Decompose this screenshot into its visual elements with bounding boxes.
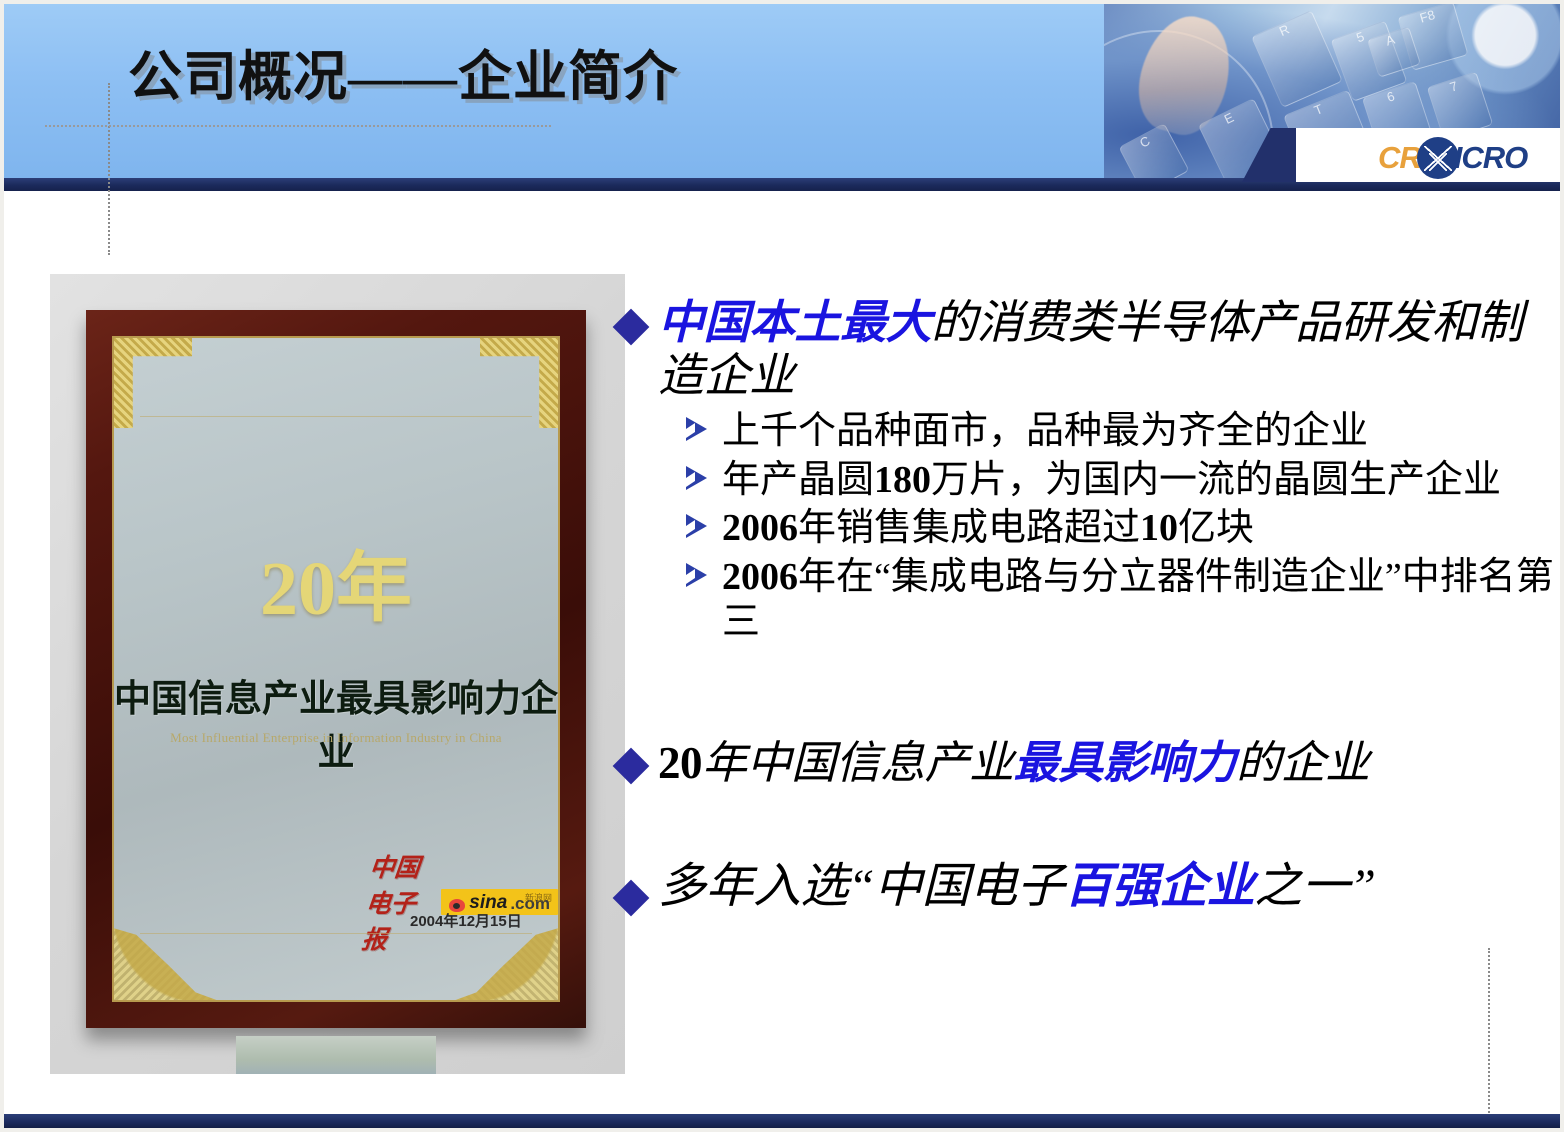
plaque-corner-top-right-icon — [480, 336, 560, 428]
sub3-d: 亿块 — [1178, 507, 1254, 549]
plaque-year-text: 20年 — [114, 526, 558, 636]
arrow-bullet-icon — [684, 415, 710, 449]
diamond-bullet-icon — [613, 880, 650, 917]
bullet-2-d: 的企业 — [1236, 738, 1370, 788]
bullet-level1-2: 20年中国信息产业最具影响力的企业 — [618, 737, 1558, 789]
plaque-hairline-bottom — [140, 933, 532, 934]
plaque-date-text: 2004年12月15日 — [410, 910, 522, 931]
sub2-c: 万片，为国内一流的晶圆生产企业 — [931, 459, 1501, 501]
bullet-level1-1-text: 中国本土最大的消费类半导体产品研发和制造企业 — [658, 296, 1558, 403]
bullet-level1-2-text: 20年中国信息产业最具影响力的企业 — [658, 737, 1370, 789]
bullet-3-a: 多年入选“中国电子 — [658, 860, 1064, 913]
bullet-level2-2-text: 年产晶圆180万片，为国内一流的晶圆生产企业 — [722, 458, 1501, 503]
plaque-stand — [236, 1036, 436, 1074]
arrow-bullet-icon — [684, 561, 710, 595]
bullet-level2-4: 2006年在“集成电路与分立器件制造企业”中排名第三 — [684, 555, 1558, 645]
logo-text-icro: ICRO — [1454, 140, 1528, 176]
bullet-level2-list: 上千个品种面市，品种最为齐全的企业 年产晶圆180万片，为国内一流的晶圆生产企业… — [684, 409, 1558, 645]
diamond-bullet-icon — [613, 747, 650, 784]
sub3-number: 10 — [1140, 507, 1178, 549]
bullet-content-column: 中国本土最大的消费类半导体产品研发和制造企业 上千个品种面市，品种最为齐全的企业… — [618, 296, 1558, 915]
dotted-guide-vertical-right — [1488, 948, 1490, 1132]
plaque-inner-panel: 20年 中国信息产业最具影响力企业 Most Influential Enter… — [112, 336, 560, 1002]
sub3-year: 2006 — [722, 507, 798, 549]
crmicro-logo: CR ICRO — [1378, 136, 1560, 180]
plaque-wood-frame: 20年 中国信息产业最具影响力企业 Most Influential Enter… — [86, 310, 586, 1028]
bullet-level2-1-text: 上千个品种面市，品种最为齐全的企业 — [722, 409, 1368, 454]
plaque-corner-bottom-left-icon — [112, 882, 222, 1002]
logo-text-cr: CR — [1378, 140, 1421, 176]
mountain-m-icon — [1417, 137, 1459, 179]
bullet-1-highlight: 中国本土最大 — [658, 297, 931, 348]
page-title: 公司概况——企业简介 — [128, 32, 678, 111]
spacer-1 — [618, 649, 1558, 737]
bullet-2-b: 年中国信息产业 — [702, 738, 1014, 788]
bullet-3-c: 之一” — [1254, 860, 1375, 913]
dotted-guide-horizontal-left — [45, 125, 551, 127]
arrow-bullet-icon — [684, 464, 710, 498]
sub2-a: 年产晶圆 — [722, 459, 874, 501]
award-plaque-photo: 20年 中国信息产业最具影响力企业 Most Influential Enter… — [50, 274, 625, 1074]
sub4-b: 年在“集成电路与分立器件制造企业”中排名第三 — [722, 556, 1554, 643]
bullet-level2-2: 年产晶圆180万片，为国内一流的晶圆生产企业 — [684, 458, 1558, 503]
sub4-year: 2006 — [722, 556, 798, 598]
diamond-bullet-icon — [613, 309, 650, 346]
bullet-level2-1: 上千个品种面市，品种最为齐全的企业 — [684, 409, 1558, 454]
sub1-text: 上千个品种面市，品种最为齐全的企业 — [722, 410, 1368, 452]
bullet-3-highlight: 百强企业 — [1064, 860, 1254, 913]
presentation-slide: R 5 F8 T 6 A 7 E C CR ICRO 公司概况——企业简介 — [0, 0, 1564, 1132]
bullet-level2-3: 2006年销售集成电路超过10亿块 — [684, 506, 1558, 551]
sub2-number: 180 — [874, 459, 931, 501]
bullet-level2-4-text: 2006年在“集成电路与分立器件制造企业”中排名第三 — [722, 555, 1558, 645]
plaque-english-subtitle: Most Influential Enterprise in Informati… — [114, 730, 558, 746]
footer-navy-bar — [4, 1114, 1560, 1128]
bullet-level1-3: 多年入选“中国电子百强企业之一” — [618, 859, 1558, 915]
china-electronics-news-logo: 中国电子报 — [360, 848, 433, 956]
plaque-corner-top-left-icon — [112, 336, 192, 428]
bullet-level2-3-text: 2006年销售集成电路超过10亿块 — [722, 506, 1254, 551]
spacer-2 — [618, 789, 1558, 859]
bullet-level1-1: 中国本土最大的消费类半导体产品研发和制造企业 — [618, 296, 1558, 403]
sina-logo-cn: 新浪网 — [525, 891, 552, 904]
dotted-guide-vertical-left — [108, 83, 110, 255]
sub3-b: 年销售集成电路超过 — [798, 507, 1140, 549]
plaque-hairline-top — [140, 416, 532, 417]
bullet-2-highlight: 最具影响力 — [1014, 738, 1237, 788]
arrow-bullet-icon — [684, 512, 710, 546]
plaque-main-title: 中国信息产业最具影响力企业 — [114, 668, 558, 776]
plaque-logo-row: 中国电子报 sina .com 新浪网 — [366, 848, 558, 956]
bullet-level1-3-text: 多年入选“中国电子百强企业之一” — [658, 859, 1375, 915]
bullet-2-number: 20 — [658, 738, 702, 788]
